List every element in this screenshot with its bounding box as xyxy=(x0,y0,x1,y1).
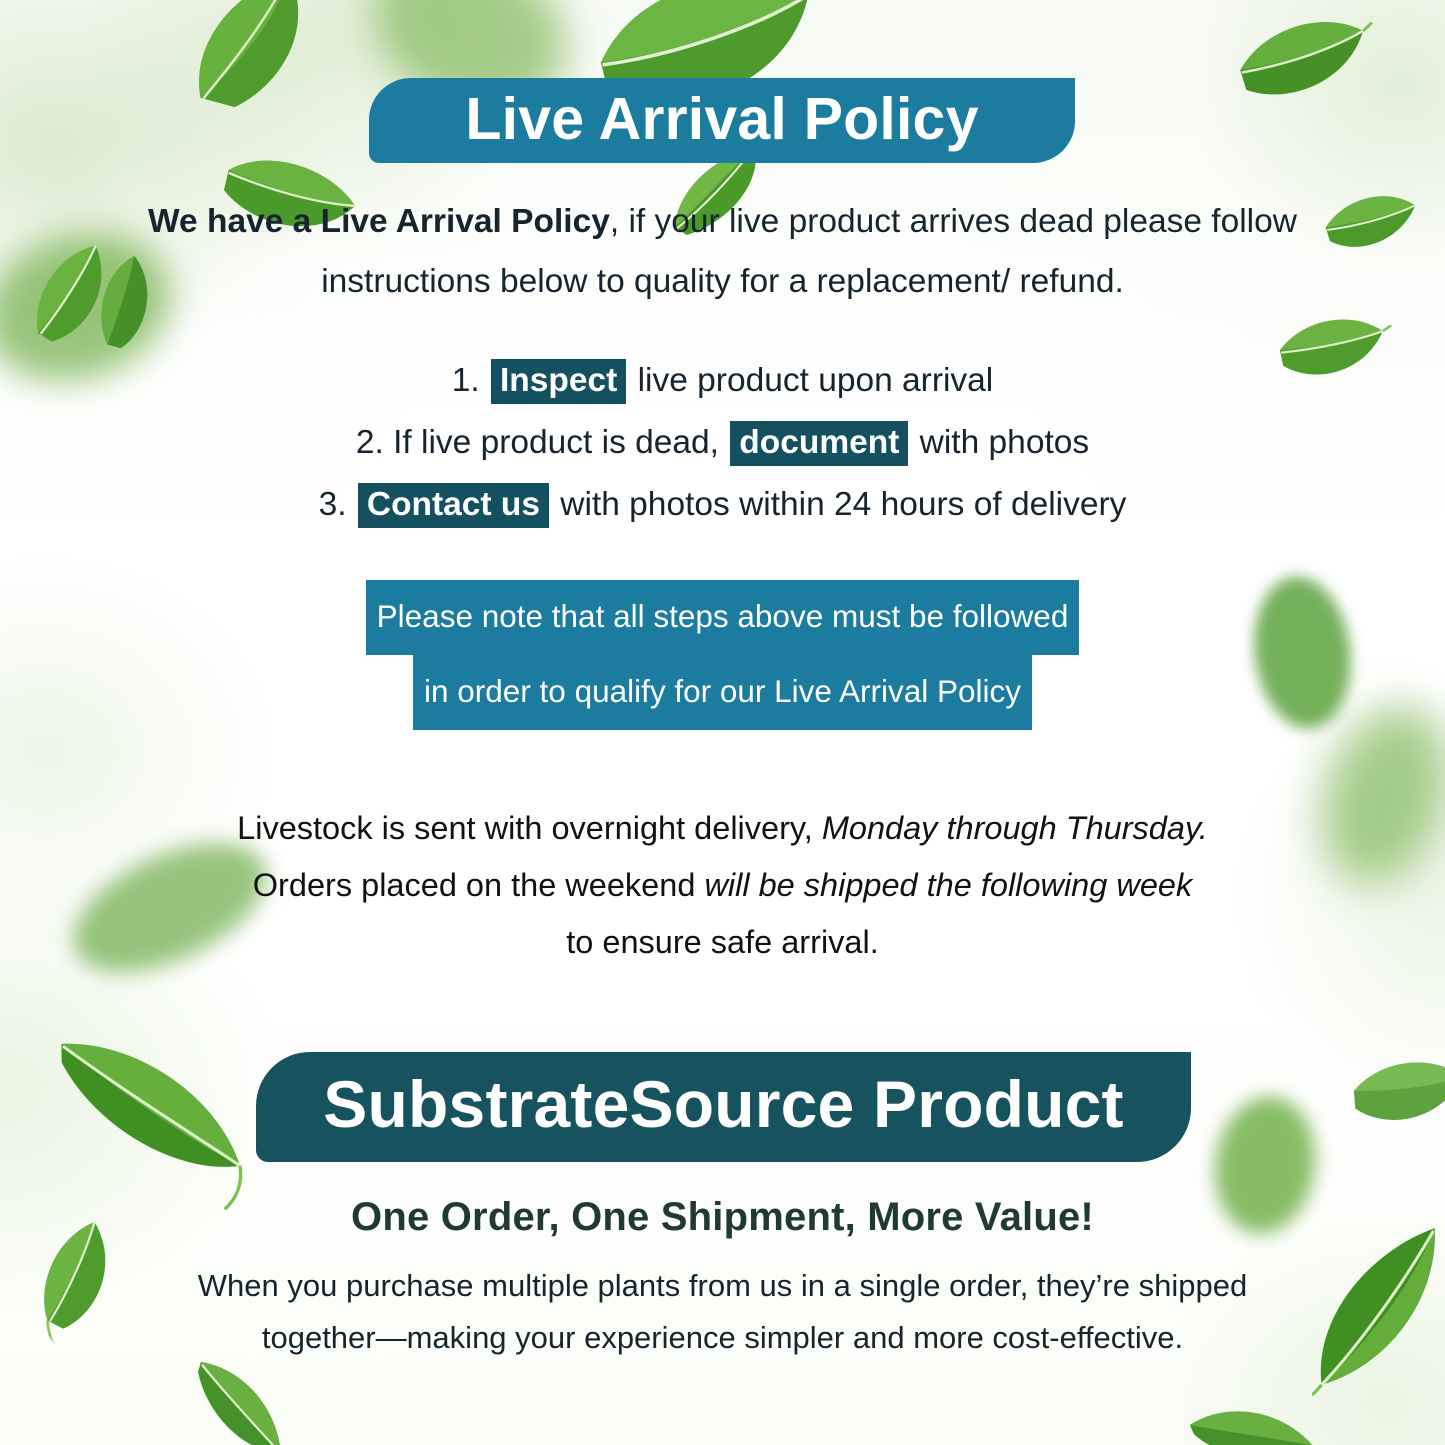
shipping-line-3: to ensure safe arrival. xyxy=(140,914,1305,971)
intro-paragraph: We have a Live Arrival Policy, if your l… xyxy=(140,192,1305,312)
step-1-number: 1. xyxy=(452,362,480,399)
banner-substratesource-product: SubstrateSource Product xyxy=(256,1052,1191,1162)
step-2-highlight: document xyxy=(730,421,908,466)
product-subheading: One Order, One Shipment, More Value! xyxy=(140,1195,1305,1240)
product-body-line-1: When you purchase multiple plants from u… xyxy=(140,1260,1305,1312)
list-item: 1. Inspect live product upon arrival xyxy=(140,350,1305,412)
shipping-line-2-italic: will be shipped the following week xyxy=(704,867,1192,903)
intro-line-2: instructions below to quality for a repl… xyxy=(140,252,1305,312)
shipping-line-2-plain: Orders placed on the weekend xyxy=(253,867,696,903)
step-1-highlight: Inspect xyxy=(491,359,626,404)
policy-note-line-1: Please note that all steps above must be… xyxy=(366,580,1080,655)
step-2-number: 2. xyxy=(356,424,384,461)
shipping-line-1-plain: Livestock is sent with overnight deliver… xyxy=(237,810,813,846)
policy-note-block: Please note that all steps above must be… xyxy=(140,580,1305,730)
step-2-before: If live product is dead, xyxy=(393,424,719,461)
step-2-after: with photos xyxy=(920,424,1089,461)
step-3-highlight: Contact us xyxy=(358,483,549,528)
step-3-number: 3. xyxy=(319,486,347,523)
intro-line-1-rest: , if your live product arrives dead plea… xyxy=(610,203,1297,240)
step-3-after: with photos within 24 hours of delivery xyxy=(560,486,1126,523)
shipping-line-2: Orders placed on the weekend will be shi… xyxy=(140,857,1305,914)
live-arrival-policy-page: Live Arrival Policy We have a Live Arriv… xyxy=(0,0,1445,1445)
product-body-paragraph: When you purchase multiple plants from u… xyxy=(140,1260,1305,1364)
policy-note-line-2: in order to qualify for our Live Arrival… xyxy=(413,655,1032,730)
intro-line-1: We have a Live Arrival Policy, if your l… xyxy=(140,192,1305,252)
product-body-line-2: together—making your experience simpler … xyxy=(140,1312,1305,1364)
list-item: 2. If live product is dead, document wit… xyxy=(140,412,1305,474)
steps-list: 1. Inspect live product upon arrival 2. … xyxy=(140,350,1305,536)
list-item: 3. Contact us with photos within 24 hour… xyxy=(140,474,1305,536)
shipping-paragraph: Livestock is sent with overnight deliver… xyxy=(140,800,1305,971)
step-1-after: live product upon arrival xyxy=(638,362,994,399)
banner-live-arrival-policy: Live Arrival Policy xyxy=(369,78,1075,163)
shipping-line-1: Livestock is sent with overnight deliver… xyxy=(140,800,1305,857)
shipping-line-1-italic: Monday through Thursday. xyxy=(822,810,1208,846)
intro-bold-lead: We have a Live Arrival Policy xyxy=(148,203,610,240)
